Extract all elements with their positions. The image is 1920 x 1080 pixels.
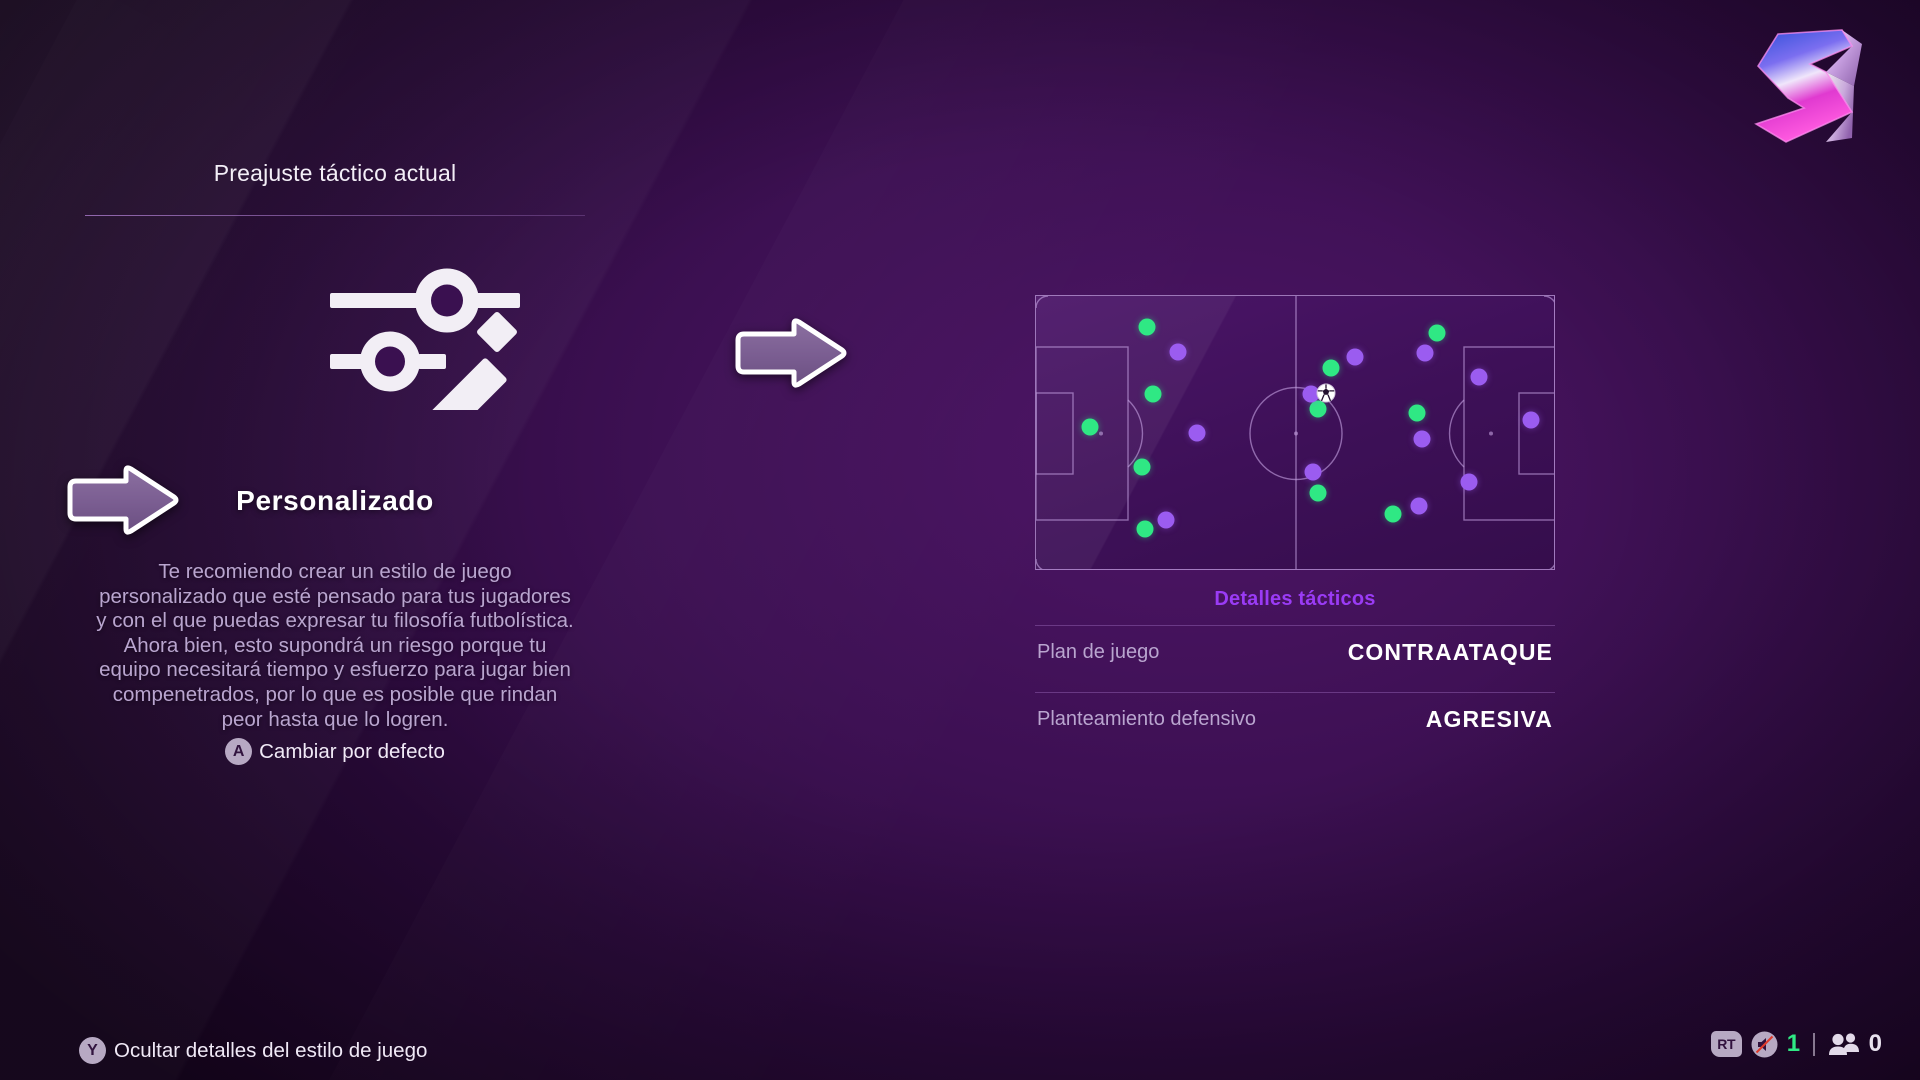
player-dot-purple	[1416, 345, 1433, 362]
change-default-button[interactable]: A Cambiar por defecto	[85, 738, 585, 765]
player-dot-green	[1408, 405, 1425, 422]
player-dot-green	[1323, 360, 1340, 377]
player-dot-purple	[1470, 368, 1487, 385]
hide-details-label: Ocultar detalles del estilo de juego	[114, 1039, 427, 1063]
change-default-label: Cambiar por defecto	[259, 740, 445, 764]
player-dot-green	[1429, 324, 1446, 341]
hide-details-button[interactable]: Y Ocultar detalles del estilo de juego	[79, 1037, 427, 1064]
player-dot-purple	[1346, 349, 1363, 366]
party-count: 0	[1869, 1030, 1882, 1058]
voice-count: 1	[1787, 1030, 1800, 1058]
player-dot-purple	[1305, 464, 1322, 481]
people-icon	[1828, 1032, 1860, 1057]
tactics-row-label: Planteamiento defensivo	[1037, 708, 1256, 731]
tactics-row[interactable]: Plan de juego CONTRAATAQUE	[1035, 626, 1555, 678]
player-dot-green	[1134, 458, 1151, 475]
selection-cursor-right-icon	[733, 318, 848, 388]
player-dot-purple	[1170, 343, 1187, 360]
sliders-wand-icon	[330, 255, 520, 410]
player-dot-purple	[1522, 412, 1539, 429]
preset-name: Personalizado	[85, 485, 585, 517]
button-y-icon: Y	[79, 1037, 106, 1064]
tactics-row-label: Plan de juego	[1037, 641, 1159, 664]
button-a-icon: A	[225, 738, 252, 765]
tactics-details-title: Detalles tácticos	[1035, 588, 1555, 611]
player-dot-green	[1136, 521, 1153, 538]
speaker-muted-icon[interactable]	[1751, 1031, 1778, 1058]
tactics-row-value: CONTRAATAQUE	[1348, 639, 1553, 666]
tactics-panel: Detalles tácticos Plan de juego CONTRAAT…	[1035, 295, 1555, 745]
player-dot-purple	[1411, 498, 1428, 515]
rt-trigger-icon: RT	[1711, 1031, 1742, 1057]
page-title: Preajuste táctico actual	[85, 160, 585, 187]
brand-logo-icon	[1728, 14, 1878, 154]
player-dot-purple	[1460, 473, 1477, 490]
status-indicators: RT 1 0	[1711, 1030, 1882, 1058]
tactics-row[interactable]: Planteamiento defensivo AGRESIVA	[1035, 693, 1555, 745]
preset-description: Te recomiendo crear un estilo de juego p…	[95, 560, 575, 732]
player-dot-purple	[1413, 431, 1430, 448]
pitch-lines	[1036, 296, 1555, 570]
status-divider	[1813, 1033, 1815, 1056]
title-divider	[85, 215, 585, 216]
tactics-row-value: AGRESIVA	[1426, 706, 1553, 733]
player-dot-purple	[1157, 511, 1174, 528]
player-dot-green	[1082, 419, 1099, 436]
formation-pitch[interactable]	[1035, 295, 1555, 570]
screen-root: Preajuste táctico actual	[0, 0, 1920, 1080]
ball-icon	[1317, 383, 1336, 402]
player-dot-green	[1144, 386, 1161, 403]
preset-panel: Preajuste táctico actual	[85, 160, 585, 216]
player-dot-green	[1139, 319, 1156, 336]
player-dot-green	[1310, 484, 1327, 501]
player-dot-purple	[1188, 424, 1205, 441]
player-dot-green	[1385, 506, 1402, 523]
player-dot-green	[1310, 401, 1327, 418]
